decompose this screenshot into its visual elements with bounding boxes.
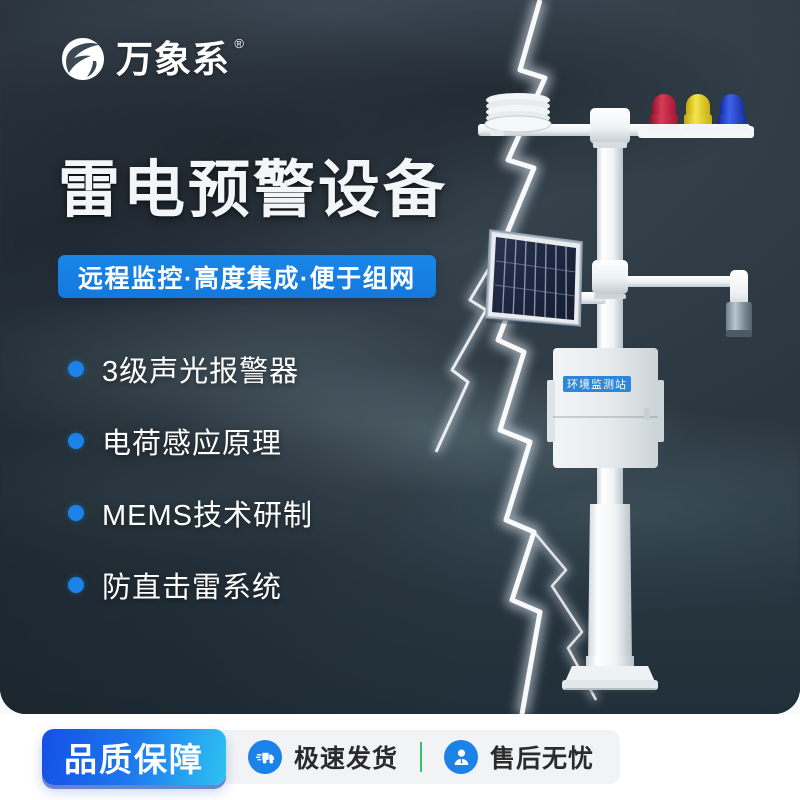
blue-dot-icon <box>68 577 84 593</box>
list-item: 3级声光报警器 <box>68 348 313 390</box>
brand-name-text: 万象系 <box>116 39 230 80</box>
feature-list: 3级声光报警器 电荷感应原理 MEMS技术研制 防直击雷系统 <box>68 348 313 606</box>
hero-section: 环境监测站 万象系 ® 雷电预警设备 远程监控·高度集成·便于组网 3级声光报警… <box>0 0 800 714</box>
radiation-shield-sensor <box>485 93 551 136</box>
red-alarm-beacon <box>649 94 679 132</box>
brand-name: 万象系 ® <box>116 41 230 78</box>
enclosure-label: 环境监测站 <box>563 376 631 392</box>
blue-dot-icon <box>68 505 84 521</box>
yellow-alarm-beacon <box>683 94 713 132</box>
feature-label: 电荷感应原理 <box>102 420 282 462</box>
product-poster: 环境监测站 万象系 ® 雷电预警设备 远程监控·高度集成·便于组网 3级声光报警… <box>0 0 800 800</box>
quality-guarantee-badge: 品质保障 <box>42 729 226 785</box>
list-item: MEMS技术研制 <box>68 492 313 534</box>
trust-item-label: 极速发货 <box>294 739 398 775</box>
registered-trademark-icon: ® <box>234 37 245 50</box>
trust-item-label: 售后无忧 <box>490 739 594 775</box>
base-plate <box>562 666 658 693</box>
alarm-beacon-assembly <box>638 94 754 138</box>
trust-item-aftersales: 售后无忧 <box>444 739 594 775</box>
hero-badge: 远程监控·高度集成·便于组网 <box>58 255 436 298</box>
support-agent-icon <box>444 740 478 774</box>
blue-dot-icon <box>68 433 84 449</box>
page-title: 雷电预警设备 <box>58 160 448 222</box>
brand-logo: 万象系 ® <box>60 36 230 82</box>
pole-collars <box>592 260 628 299</box>
list-item: 防直击雷系统 <box>68 564 313 606</box>
feature-label: 防直击雷系统 <box>102 564 282 606</box>
feature-label: 3级声光报警器 <box>102 348 299 390</box>
trust-item-shipping: 极速发货 <box>248 739 398 775</box>
trust-feature-strip: 极速发货 售后无忧 <box>212 730 620 784</box>
brand-swoosh-mark-icon <box>60 36 106 82</box>
blue-alarm-beacon <box>717 94 747 132</box>
feature-label: MEMS技术研制 <box>102 492 313 534</box>
enclosure-label-text: 环境监测站 <box>567 377 627 391</box>
trust-bar: 品质保障 极速发货 <box>0 714 800 800</box>
electric-field-sensor <box>620 270 752 337</box>
trust-divider <box>420 742 422 772</box>
product-illustration: 环境监测站 <box>430 80 800 705</box>
delivery-truck-icon <box>248 740 282 774</box>
list-item: 电荷感应原理 <box>68 420 313 462</box>
controller-enclosure: 环境监测站 <box>547 348 664 468</box>
blue-dot-icon <box>68 361 84 377</box>
solar-panel <box>486 230 582 330</box>
